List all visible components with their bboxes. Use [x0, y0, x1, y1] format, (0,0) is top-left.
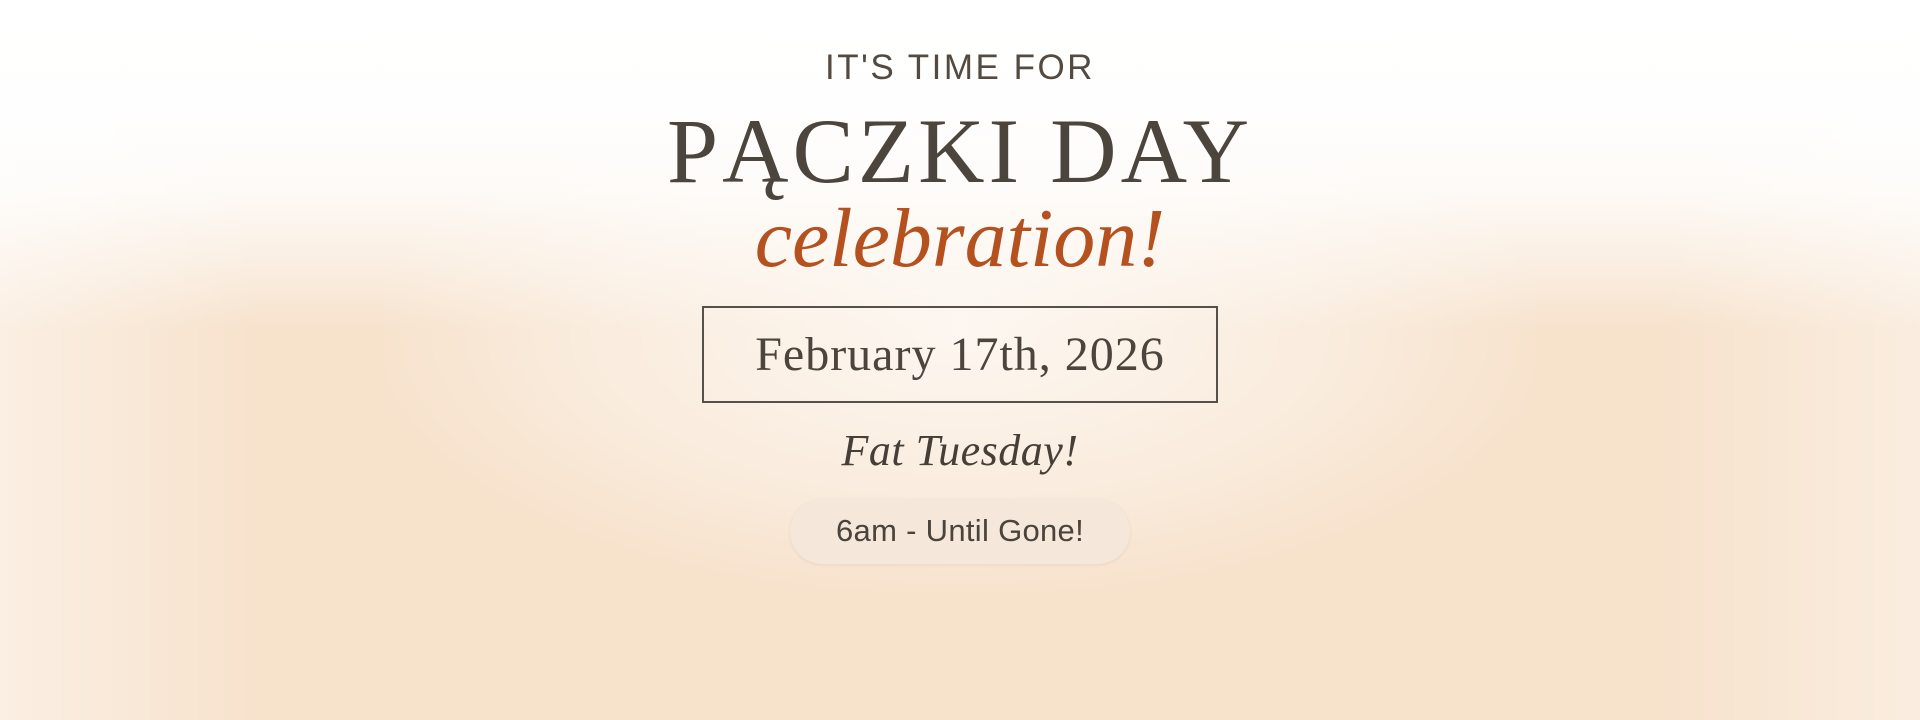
occasion-text: Fat Tuesday! — [842, 429, 1079, 473]
page-title: PĄCZKI DAY — [667, 103, 1253, 200]
hours-badge-button[interactable]: 6am - Until Gone! — [790, 499, 1130, 564]
paczki-day-promo-banner: IT'S TIME FOR PĄCZKI DAY celebration! Fe… — [0, 0, 1920, 720]
event-date-text: February 17th, 2026 — [755, 331, 1165, 379]
banner-content: IT'S TIME FOR PĄCZKI DAY celebration! Fe… — [0, 0, 1920, 720]
event-date-box: February 17th, 2026 — [702, 306, 1218, 403]
headline-script-accent: celebration! — [755, 194, 1166, 285]
eyebrow-text: IT'S TIME FOR — [825, 50, 1095, 85]
